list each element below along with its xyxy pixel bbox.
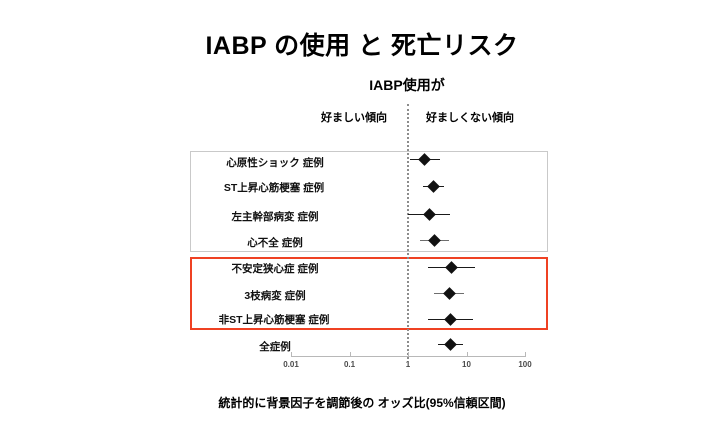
x-tick-mark bbox=[467, 352, 468, 357]
chart-caption: 統計的に背景因子を調節後の オッズ比(95%信頼区間) bbox=[0, 394, 724, 411]
x-tick-label: 10 bbox=[447, 360, 487, 369]
x-tick-mark bbox=[291, 352, 292, 357]
null-effect-line bbox=[407, 104, 409, 359]
forest-row-label: 不安定狭心症 症例 bbox=[190, 263, 360, 275]
x-tick-mark bbox=[408, 352, 409, 357]
x-tick-label: 0.01 bbox=[271, 360, 311, 369]
slide-canvas: IABP の使用 と 死亡リスク IABP使用が 好ましい傾向 好ましくない傾向… bbox=[0, 0, 724, 430]
odds-ratio-marker bbox=[444, 338, 457, 351]
x-tick-mark bbox=[525, 352, 526, 357]
x-tick-label: 100 bbox=[505, 360, 545, 369]
x-tick-label: 1 bbox=[388, 360, 428, 369]
forest-row-label: 3枝病変 症例 bbox=[190, 290, 360, 302]
forest-row-label: 心原性ショック 症例 bbox=[190, 157, 360, 169]
forest-row-label: 心不全 症例 bbox=[190, 237, 360, 249]
forest-plot: 心原性ショック 症例ST上昇心筋梗塞 症例左主幹部病変 症例心不全 症例不安定狭… bbox=[0, 0, 724, 430]
x-tick-mark bbox=[350, 352, 351, 357]
forest-row-label: 左主幹部病変 症例 bbox=[190, 211, 360, 223]
forest-row-label: ST上昇心筋梗塞 症例 bbox=[186, 182, 362, 194]
forest-row-label: 非ST上昇心筋梗塞 症例 bbox=[186, 314, 362, 326]
x-tick-label: 0.1 bbox=[330, 360, 370, 369]
forest-row-label: 全症例 bbox=[190, 341, 360, 353]
